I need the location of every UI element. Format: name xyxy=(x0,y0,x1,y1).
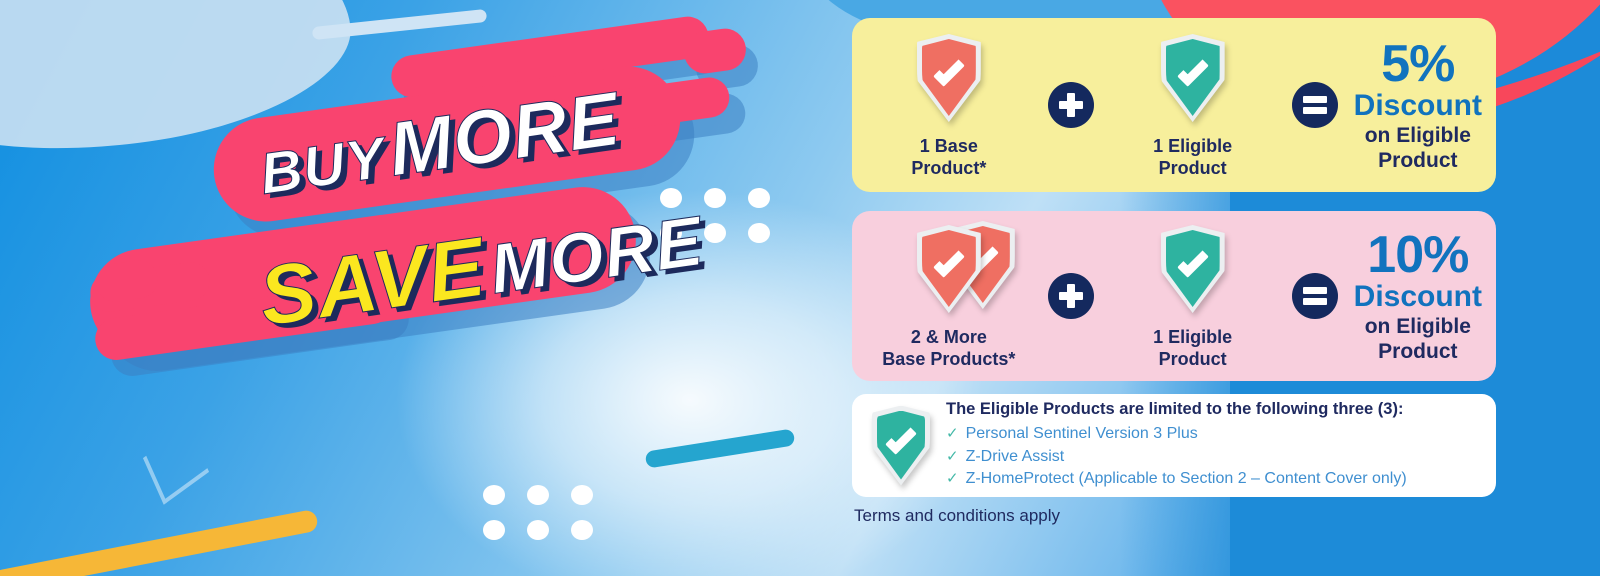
offer-2-result-sub2: Product xyxy=(1354,340,1482,365)
offer-1-base-label: 1 Base Product* xyxy=(911,136,986,180)
offer-1-eligible-slot: 1 Eligible Product xyxy=(1110,30,1276,180)
eligible-product-2: Z-Drive Assist xyxy=(966,446,1065,469)
check-icon: ✓ xyxy=(946,446,959,468)
offer-1-percent: 5% xyxy=(1354,36,1482,92)
eligible-products-heading: The Eligible Products are limited to the… xyxy=(946,400,1476,419)
offer-1-eligible-label-line1: 1 Eligible xyxy=(1153,136,1232,158)
offer-1-discount-word: Discount xyxy=(1354,90,1482,122)
offer-1-eligible-label: 1 Eligible Product xyxy=(1153,136,1232,180)
offer-card-tier-1: 1 Base Product* 1 Eligible Product xyxy=(852,18,1496,192)
offer-2-eligible-label-line2: Product xyxy=(1153,349,1232,371)
shield-check-teal-icon xyxy=(872,406,930,486)
check-icon: ✓ xyxy=(946,468,959,490)
list-item: ✓ Z-HomeProtect (Applicable to Section 2… xyxy=(946,468,1476,491)
offer-2-result-sub1: on Eligible xyxy=(1354,315,1482,340)
list-item: ✓ Z-Drive Assist xyxy=(946,446,1476,469)
offer-1-eligible-label-line2: Product xyxy=(1153,158,1232,180)
headline-more-2: MORE xyxy=(485,200,708,309)
offer-1-operator-equals xyxy=(1275,82,1353,128)
plus-icon xyxy=(1048,82,1094,128)
shield-check-teal-icon xyxy=(1161,221,1225,317)
shield-check-red-double-icon xyxy=(917,221,981,317)
offer-1-base-label-line1: 1 Base xyxy=(911,136,986,158)
plus-icon xyxy=(1048,273,1094,319)
list-item: ✓ Personal Sentinel Version 3 Plus xyxy=(946,423,1476,446)
offer-2-eligible-label: 1 Eligible Product xyxy=(1153,327,1232,371)
offer-1-result-sub1: on Eligible xyxy=(1354,124,1482,149)
check-icon: ✓ xyxy=(946,423,959,445)
offer-2-eligible-slot: 1 Eligible Product xyxy=(1110,221,1276,371)
equals-icon xyxy=(1292,82,1338,128)
offer-2-base-label-line1: 2 & More xyxy=(882,327,1015,349)
offer-2-percent: 10% xyxy=(1354,227,1482,283)
offer-2-base-slot: 2 & More Base Products* xyxy=(866,221,1032,371)
headline-block: BUY MORE SAVE MORE xyxy=(0,0,800,420)
decor-dot-grid-bottom xyxy=(483,485,593,540)
eligible-products-text: The Eligible Products are limited to the… xyxy=(946,400,1476,491)
eligible-product-1: Personal Sentinel Version 3 Plus xyxy=(966,423,1198,446)
headline-buy: BUY xyxy=(256,124,390,208)
equals-icon xyxy=(1292,273,1338,319)
promo-banner: BUY MORE SAVE MORE 1 Base Product* xyxy=(0,0,1600,576)
offer-2-operator-plus xyxy=(1032,273,1110,319)
offer-card-tier-2: 2 & More Base Products* 1 Eligible Produ xyxy=(852,211,1496,381)
offer-1-result-sub2: Product xyxy=(1354,149,1482,174)
offer-2-operator-equals xyxy=(1275,273,1353,319)
eligible-product-3: Z-HomeProtect (Applicable to Section 2 –… xyxy=(966,468,1407,491)
offer-2-discount-word: Discount xyxy=(1354,281,1482,313)
offer-2-result-slot: 10% Discount on Eligible Product xyxy=(1354,227,1482,365)
offer-2-base-label-line2: Base Products* xyxy=(882,349,1015,371)
offer-2-base-label: 2 & More Base Products* xyxy=(882,327,1015,371)
offers-panel: 1 Base Product* 1 Eligible Product xyxy=(852,18,1496,526)
offer-1-base-slot: 1 Base Product* xyxy=(866,30,1032,180)
eligible-products-info-box: The Eligible Products are limited to the… xyxy=(852,394,1496,497)
offer-1-result-slot: 5% Discount on Eligible Product xyxy=(1354,36,1482,174)
offer-2-eligible-label-line1: 1 Eligible xyxy=(1153,327,1232,349)
offer-1-base-label-line2: Product* xyxy=(911,158,986,180)
offer-1-operator-plus xyxy=(1032,82,1110,128)
shield-check-red-icon xyxy=(917,30,981,126)
shield-check-teal-icon xyxy=(1161,30,1225,126)
terms-and-conditions: Terms and conditions apply xyxy=(852,506,1496,526)
